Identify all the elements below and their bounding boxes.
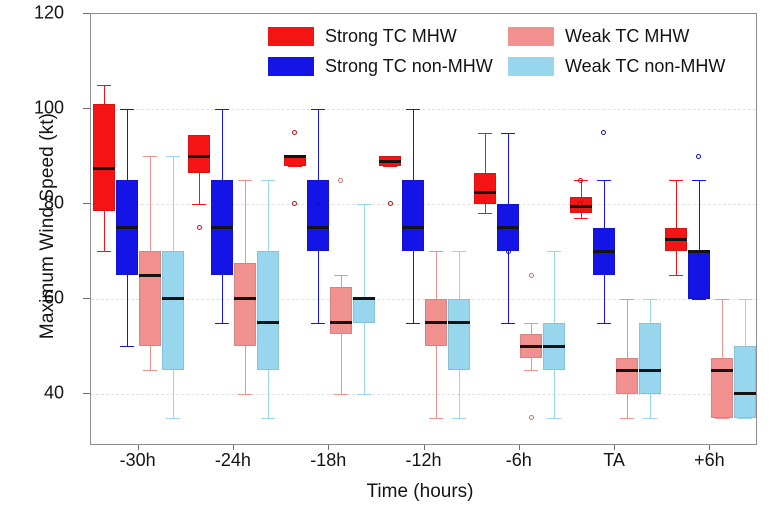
y-tick-label: 100	[20, 97, 64, 118]
y-tick-label: 60	[20, 287, 64, 308]
box-plot-item[interactable]	[188, 14, 279, 444]
legend-entry[interactable]: Weak TC MHW	[508, 26, 748, 47]
x-tick-label: -24h	[185, 450, 281, 471]
y-tick-mark	[83, 298, 90, 299]
whisker-cap-high	[166, 156, 180, 157]
whisker-cap-low	[547, 418, 561, 419]
legend-color-swatch	[268, 57, 314, 76]
x-tick-label: -6h	[471, 450, 567, 471]
x-tick-label: TA	[566, 450, 662, 471]
boxplot-figure: Maximum Wind Speed (kt) Time (hours) 406…	[0, 0, 770, 513]
x-tick-label: -18h	[280, 450, 376, 471]
whisker-cap-high	[452, 251, 466, 252]
y-tick-label: 40	[20, 382, 64, 403]
whisker-cap-low	[643, 418, 657, 419]
x-tick-label: +6h	[661, 450, 757, 471]
legend-label: Weak TC MHW	[565, 26, 689, 47]
median-line	[639, 369, 661, 372]
x-tick-label: -12h	[376, 450, 472, 471]
y-tick-label: 120	[20, 3, 64, 24]
box-iqr[interactable]	[734, 346, 756, 417]
whisker-cap-low	[738, 418, 752, 419]
x-tick-mark	[709, 445, 710, 450]
y-tick-mark	[83, 393, 90, 394]
legend-color-swatch	[268, 27, 314, 46]
x-tick-mark	[328, 445, 329, 450]
whisker-cap-low	[261, 418, 275, 419]
x-tick-mark	[519, 445, 520, 450]
x-tick-label: -30h	[90, 450, 186, 471]
box-iqr[interactable]	[448, 299, 470, 370]
legend-entry[interactable]: Weak TC non-MHW	[508, 56, 748, 77]
whisker-cap-low	[452, 418, 466, 419]
legend-color-swatch	[508, 57, 554, 76]
median-line	[257, 321, 279, 324]
median-line	[543, 345, 565, 348]
x-tick-mark	[138, 445, 139, 450]
legend-color-swatch	[508, 27, 554, 46]
y-tick-label: 80	[20, 192, 64, 213]
whisker-cap-high	[643, 299, 657, 300]
median-line	[448, 321, 470, 324]
legend: Strong TC MHWWeak TC MHWStrong TC non-MH…	[268, 21, 748, 81]
legend-entry[interactable]: Strong TC non-MHW	[268, 56, 508, 77]
box-group	[93, 14, 184, 444]
box-iqr[interactable]	[639, 323, 661, 394]
whisker-cap-low	[357, 394, 371, 395]
median-line	[162, 297, 184, 300]
box-iqr[interactable]	[353, 299, 375, 323]
whisker-cap-high	[261, 180, 275, 181]
x-tick-mark	[233, 445, 234, 450]
legend-label: Strong TC non-MHW	[325, 56, 493, 77]
y-tick-mark	[83, 108, 90, 109]
legend-label: Weak TC non-MHW	[565, 56, 725, 77]
box-plot-item[interactable]	[93, 14, 184, 444]
box-iqr[interactable]	[162, 251, 184, 370]
x-tick-mark	[424, 445, 425, 450]
y-tick-mark	[83, 13, 90, 14]
box-group	[188, 14, 279, 444]
legend-entry[interactable]: Strong TC MHW	[268, 26, 508, 47]
x-tick-mark	[614, 445, 615, 450]
whisker-cap-high	[357, 204, 371, 205]
x-axis-title: Time (hours)	[90, 481, 750, 503]
y-tick-mark	[83, 203, 90, 204]
median-line	[734, 392, 756, 395]
whisker-cap-low	[166, 418, 180, 419]
legend-label: Strong TC MHW	[325, 26, 457, 47]
whisker-cap-high	[738, 299, 752, 300]
box-iqr[interactable]	[257, 251, 279, 370]
whisker-cap-high	[547, 251, 561, 252]
median-line	[353, 297, 375, 300]
